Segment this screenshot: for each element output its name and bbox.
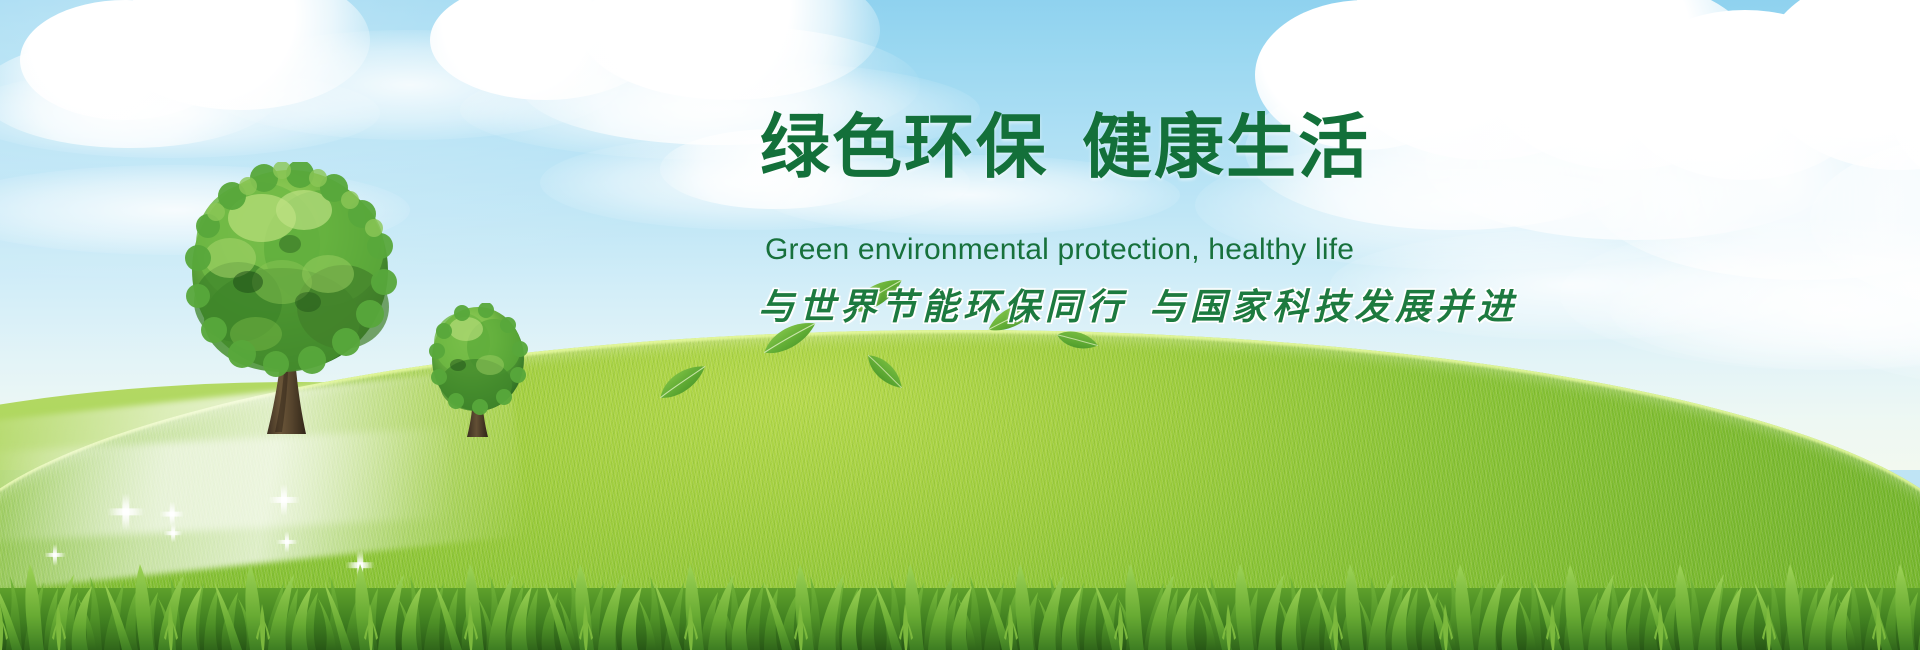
small-tree [428,303,530,443]
eco-hero-banner: 绿色环保健康生活 Green environmental protection,… [0,0,1920,650]
large-tree [178,162,408,452]
foreground-grass-band [0,530,1920,650]
